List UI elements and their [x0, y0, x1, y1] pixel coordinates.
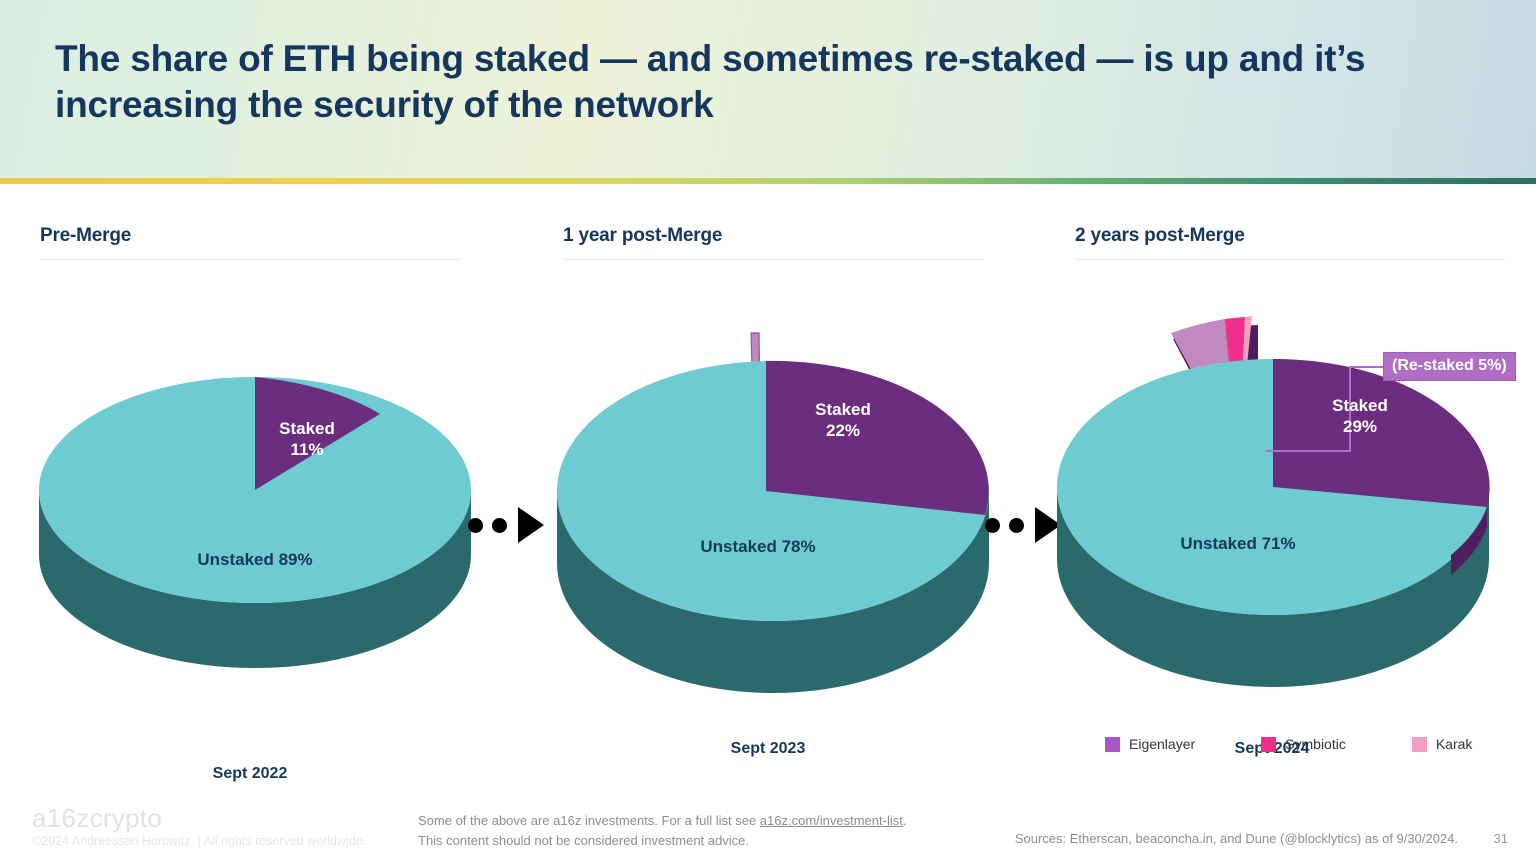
- pie-panel-2: Staked 22% Unstaked 78% Sept 2023: [563, 275, 983, 695]
- chart-heading-rule-3: [1075, 259, 1505, 260]
- chart-date-1: Sept 2022: [25, 765, 475, 783]
- chart-panel-1yr-post-merge: 1 year post-Merge Staked 22% Unstaked: [563, 225, 983, 695]
- pie-svg-2: [548, 275, 998, 695]
- disclaimer-line-1: Some of the above are a16z investments. …: [418, 811, 906, 831]
- page-number: 31: [1494, 831, 1508, 846]
- arrow-dot-icon: [468, 518, 483, 533]
- legend-swatch-icon: [1412, 737, 1427, 752]
- arrow-dot-icon: [1009, 518, 1024, 533]
- legend-item-symbiotic[interactable]: Symbiotic: [1261, 736, 1346, 752]
- pie-svg-1: [30, 300, 480, 670]
- disclaimer-prefix: Some of the above are a16z investments. …: [418, 813, 760, 828]
- chart-heading-rule-1: [40, 259, 460, 260]
- pie-chart-3[interactable]: Staked 29% Unstaked 71% (Re-staked 5%): [1053, 275, 1513, 695]
- pie-panel-3: Staked 29% Unstaked 71% (Re-staked 5%) S…: [1075, 275, 1505, 695]
- legend-label-symbiotic: Symbiotic: [1285, 736, 1346, 752]
- pie-chart-1[interactable]: Staked 11% Unstaked 89%: [30, 300, 480, 670]
- legend-swatch-icon: [1261, 737, 1276, 752]
- chart-heading-1: Pre-Merge: [40, 225, 460, 247]
- page-title: The share of ETH being staked — and some…: [55, 36, 1495, 129]
- chart-heading-2: 1 year post-Merge: [563, 225, 983, 247]
- legend-item-karak[interactable]: Karak: [1412, 736, 1473, 752]
- pie-panel-1: Staked 11% Unstaked 89% Sept 2022: [40, 300, 460, 720]
- restaked-callout-badge: (Re-staked 5%): [1383, 352, 1516, 381]
- arrow-dot-icon: [985, 518, 1000, 533]
- a16zcrypto-logo: a16zcrypto: [32, 803, 162, 834]
- legend-label-eigenlayer: Eigenlayer: [1129, 736, 1195, 752]
- pie-svg-3: [1053, 275, 1513, 695]
- chart-date-2: Sept 2023: [543, 740, 993, 758]
- disclaimer-line-2: This content should not be considered in…: [418, 831, 906, 851]
- chart-panel-pre-merge: Pre-Merge Staked 11% Unstaked 89% Sept 2…: [40, 225, 460, 720]
- disclaimer-text: Some of the above are a16z investments. …: [418, 811, 906, 851]
- restaking-legend: Eigenlayer Symbiotic Karak: [1105, 736, 1472, 752]
- chart-heading-3: 2 years post-Merge: [1075, 225, 1505, 247]
- flow-arrow-2: [985, 507, 1061, 543]
- pie-chart-2[interactable]: Staked 22% Unstaked 78%: [548, 275, 998, 695]
- legend-swatch-icon: [1105, 737, 1120, 752]
- pie-wedge-staked-3: [1273, 359, 1490, 507]
- arrow-dot-icon: [492, 518, 507, 533]
- disclaimer-suffix: .: [903, 813, 907, 828]
- pie-wedge-staked-2: [766, 361, 989, 515]
- chart-heading-rule-2: [563, 259, 983, 260]
- sources-text: Sources: Etherscan, beaconcha.in, and Du…: [1015, 831, 1458, 846]
- legend-label-karak: Karak: [1436, 736, 1473, 752]
- investment-list-link[interactable]: a16z.com/investment-list: [760, 813, 903, 828]
- copyright-text: ©2024 Andreessen Horowitz. | All rights …: [32, 834, 366, 848]
- legend-item-eigenlayer[interactable]: Eigenlayer: [1105, 736, 1195, 752]
- arrow-triangle-icon: [518, 507, 544, 543]
- header-accent-bar: [0, 178, 1536, 184]
- chart-panel-2yr-post-merge: 2 years post-Merge: [1075, 225, 1505, 695]
- flow-arrow-1: [468, 507, 544, 543]
